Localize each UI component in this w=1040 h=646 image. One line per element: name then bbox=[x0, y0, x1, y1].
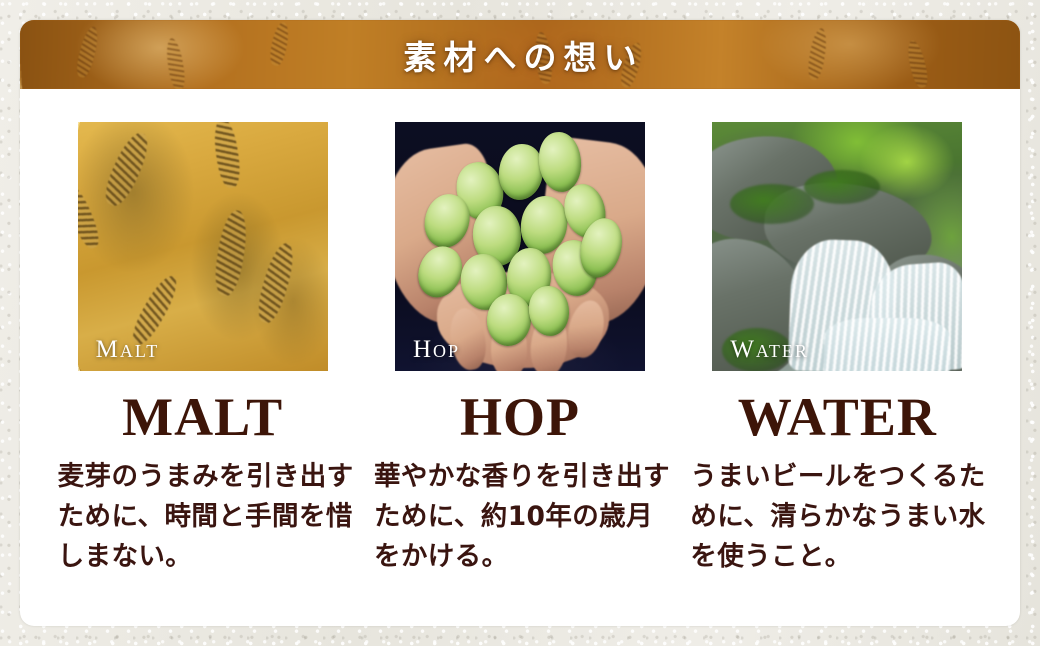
ingredient-heading-malt: MALT bbox=[122, 389, 283, 446]
section-title: 素材への想い bbox=[20, 31, 1020, 79]
moss-shape bbox=[730, 184, 814, 224]
waterfall-stream bbox=[824, 318, 950, 371]
ingredient-heading-water: WATER bbox=[738, 389, 937, 446]
ingredient-heading-hop: HOP bbox=[460, 389, 580, 446]
barley-ear-icon bbox=[78, 183, 104, 252]
barley-ear-icon bbox=[99, 128, 154, 210]
photo-caption-water: Water bbox=[730, 337, 809, 362]
barley-ear-icon bbox=[253, 240, 299, 325]
ingredient-column-hop: Hop HOP 華やかな香りを引き出すために、約10年の歳月をかける。 bbox=[361, 122, 678, 577]
section-header-band: 素材への想い bbox=[20, 20, 1020, 89]
ingredient-column-malt: Malt MALT 麦芽のうまみを引き出すために、時間と手間を惜しまない。 bbox=[44, 122, 361, 577]
photo-caption-malt: Malt bbox=[96, 337, 160, 362]
ingredient-description-malt: 麦芽のうまみを引き出すために、時間と手間を惜しまない。 bbox=[58, 457, 354, 578]
ingredient-description-hop: 華やかな香りを引き出すために、約10年の歳月をかける。 bbox=[374, 457, 670, 578]
barley-ear-icon bbox=[211, 208, 250, 297]
ingredient-description-water: うまいビールをつくるために、清らかなうまい水を使うこと。 bbox=[690, 457, 986, 578]
forest-stream-photo: Water bbox=[712, 122, 962, 371]
hops-in-hands-photo: Hop bbox=[395, 122, 645, 371]
ingredient-column-water: Water WATER うまいビールをつくるために、清らかなうまい水を使うこと。 bbox=[679, 122, 996, 577]
ingredients-card: 素材への想い Malt MALT 麦芽のうまみを引き出すために、時間と手間を惜し… bbox=[20, 20, 1020, 626]
barley-ear-icon bbox=[211, 122, 243, 189]
ingredients-columns: Malt MALT 麦芽のうまみを引き出すために、時間と手間を惜しまない。 bbox=[20, 89, 1020, 577]
moss-shape bbox=[804, 170, 880, 204]
barley-field-photo: Malt bbox=[78, 122, 328, 371]
photo-caption-hop: Hop bbox=[413, 337, 460, 362]
